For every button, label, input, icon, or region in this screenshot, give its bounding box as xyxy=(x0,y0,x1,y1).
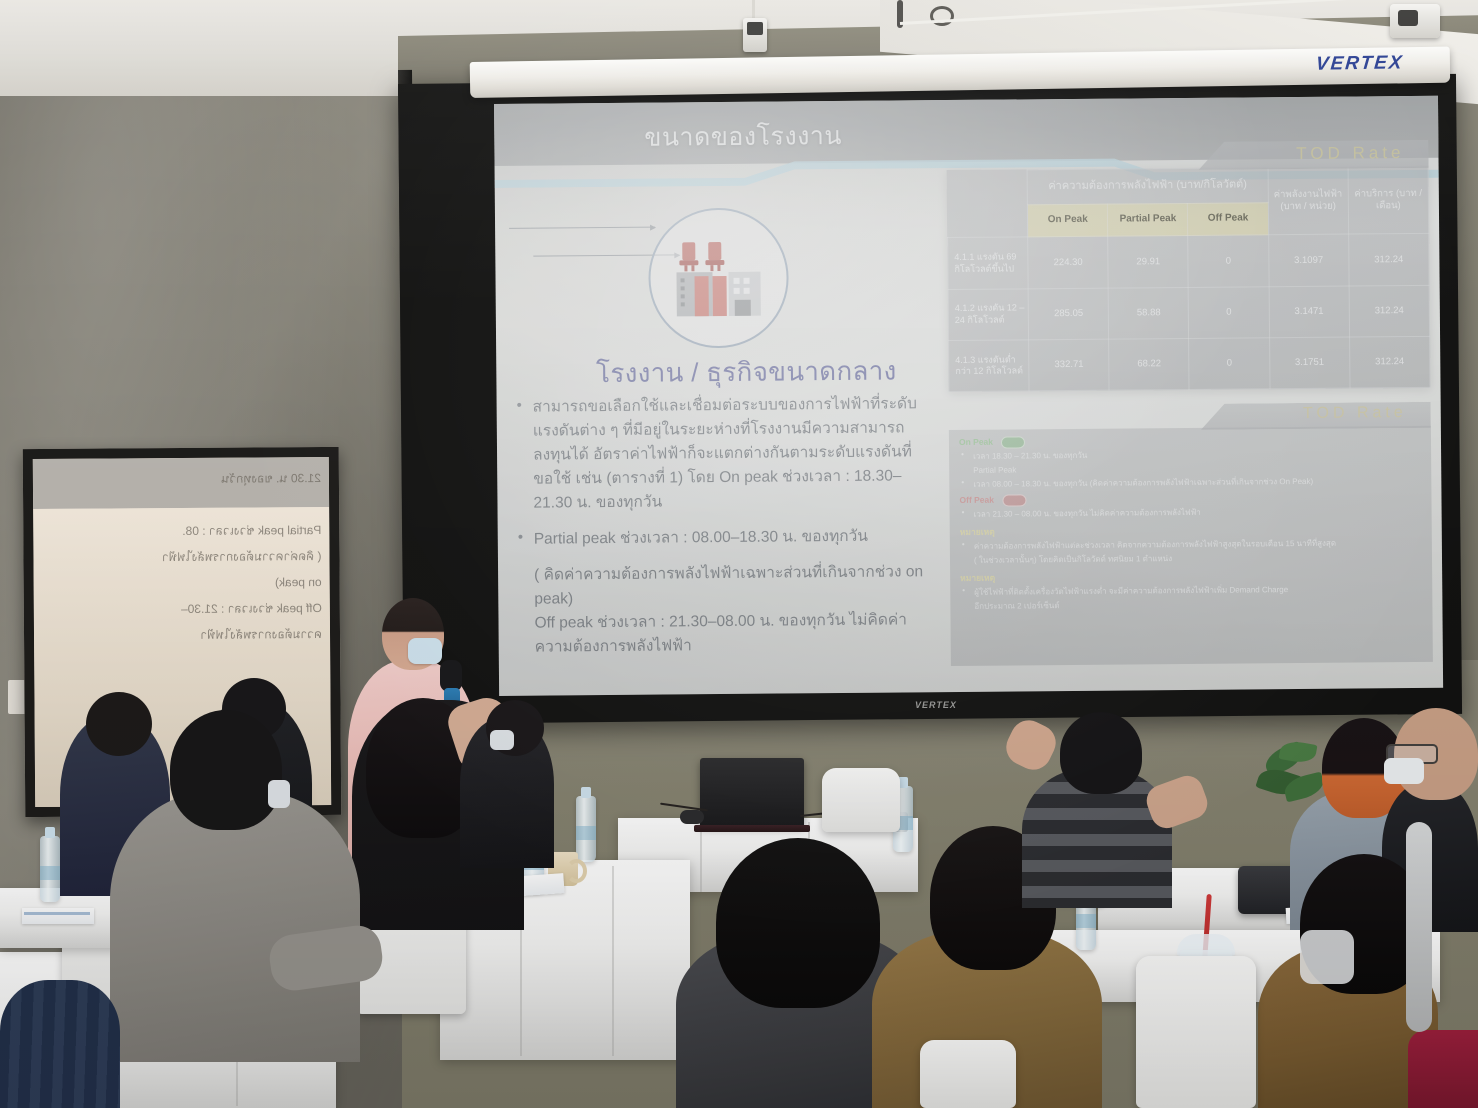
note-line: เวลา 21.30 – 08.00 น. ของทุกวัน ไม่คิดค่… xyxy=(960,505,1424,521)
table-subheader-on-peak: On Peak xyxy=(1028,204,1108,237)
table-group-header: ค่าความต้องการพลังไฟฟ้า (บาท/กิโลวัตต์) xyxy=(1027,168,1268,205)
bullet-sub-line: Off peak ช่วงเวลา : 21.30–08.00 น. ของทุ… xyxy=(514,608,932,660)
face-mask-icon xyxy=(408,638,442,664)
security-camera-icon xyxy=(743,18,767,52)
table-subheader-off-peak: Off Peak xyxy=(1188,203,1268,236)
slide-subtitle: โรงงาน / ธุรกิจขนาดกลาง xyxy=(556,350,936,394)
row-energy: 3.1097 xyxy=(1268,235,1349,287)
row-energy: 3.1471 xyxy=(1269,286,1350,338)
note-heading: หมายเหตุ xyxy=(960,568,1424,585)
water-bottle xyxy=(576,796,596,862)
bullet-sub-line: ( คิดค่าความต้องการพลังไฟฟ้าเฉพาะส่วนที่… xyxy=(514,560,932,612)
table-row: 4.1.3 แรงดันต่ำกว่า 12 กิโลโวลต์ 332.71 … xyxy=(949,336,1430,391)
cloth-fold xyxy=(700,822,702,892)
chair xyxy=(822,768,900,832)
vertex-brand-label: VERTEX xyxy=(1315,52,1405,75)
projected-slide: ขนาดของโรงงาน xyxy=(494,96,1443,696)
factory-icon-circle xyxy=(648,207,789,348)
papers xyxy=(22,908,94,924)
table-subheader-partial-peak: Partial Peak xyxy=(1108,203,1188,236)
slide-bullet-list: สามารถขอเลือกใช้และเชื่อมต่อระบบของการไฟ… xyxy=(513,392,933,660)
water-bottle xyxy=(40,836,60,902)
reflection-line: Off peak ช่วงเวลา : 21.30– xyxy=(42,599,322,619)
row-label: 4.1.3 แรงดันต่ำกว่า 12 กิโลโวลต์ xyxy=(949,340,1030,392)
slide-title: ขนาดของโรงงาน xyxy=(644,116,842,158)
face-mask-icon xyxy=(1300,930,1354,984)
note-line: ( ในช่วงเวลานั้นๆ) โดยคิดเป็นกิโลวัตต์ ท… xyxy=(960,551,1424,567)
table-row: 4.1.2 แรงดัน 12 – 24 กิโลโวลต์ 285.05 58… xyxy=(948,285,1429,340)
note-heading: หมายเหตุ xyxy=(960,522,1424,539)
note-line: อีกประมาณ 2 เปอร์เซ็นต์ xyxy=(960,596,1424,612)
tod-rate-tab-label: TOD Rate xyxy=(1296,143,1404,164)
row-label: 4.1.1 แรงดัน 69 กิโลโวลต์ขึ้นไป xyxy=(948,237,1029,289)
attendee-body-striped xyxy=(0,980,120,1108)
table-col-energy: ค่าพลังงานไฟฟ้า (บาท / หน่วย) xyxy=(1268,167,1349,235)
row-off-peak: 0 xyxy=(1188,235,1269,287)
notes-body: On Peak เวลา 18.30 – 21.30 น. ของทุกวัน … xyxy=(959,432,1425,613)
cup-dome-lid xyxy=(1177,934,1235,956)
row-on-peak: 332.71 xyxy=(1029,339,1110,391)
row-off-peak: 0 xyxy=(1189,338,1270,390)
table-row: 4.1.1 แรงดัน 69 กิโลโวลต์ขึ้นไป 224.30 2… xyxy=(948,234,1429,289)
face-mask-icon xyxy=(1384,758,1424,784)
face-mask-icon xyxy=(268,780,290,808)
row-service: 312.24 xyxy=(1348,234,1429,286)
cloth-fold xyxy=(612,866,614,1056)
presentation-room-photo: VERTEX ขนาดของโรงงาน xyxy=(0,0,1478,1108)
bullet-item: สามารถขอเลือกใช้และเชื่อมต่อระบบของการไฟ… xyxy=(513,392,932,516)
attendee-head-front-center xyxy=(716,838,880,1008)
bullet-item: Partial peak ช่วงเวลา : 08.00–18.30 น. ข… xyxy=(514,524,932,552)
table-col-service: ค่าบริการ (บาท / เดือน) xyxy=(1348,166,1429,234)
factory-icon xyxy=(672,240,765,319)
laptop-icon xyxy=(700,758,804,826)
chair xyxy=(1136,956,1256,1108)
table-header-row: ค่าความต้องการพลังไฟฟ้า (บาท/กิโลวัตต์) … xyxy=(947,166,1428,205)
reflection-line: ( คิดค่าความต้องการพลังไฟฟ้า xyxy=(41,547,321,567)
decor-arrow-1-icon xyxy=(509,227,655,229)
row-label: 4.1.2 แรงดัน 12 – 24 กิโลโวลต์ xyxy=(948,288,1029,340)
camera-mount xyxy=(752,0,755,20)
row-service: 312.24 xyxy=(1349,336,1430,388)
reflection-line: 21.30 น. ของทุกวัน xyxy=(41,469,321,489)
attendee-body-grey-shirt xyxy=(110,792,360,1062)
row-service: 312.24 xyxy=(1349,285,1430,337)
tod-rate-notes-card: TOD Rate On Peak เวลา 18.30 – 21.30 น. ข… xyxy=(949,426,1433,666)
row-partial-peak: 58.88 xyxy=(1108,287,1189,339)
note-line: เวลา 08.00 – 18.30 น. ของทุกวัน (คิดค่าค… xyxy=(959,475,1423,491)
off-peak-label: Off Peak xyxy=(959,494,994,507)
row-on-peak: 285.05 xyxy=(1028,288,1109,340)
attendee-head xyxy=(170,710,282,830)
chair-rail xyxy=(1406,822,1432,1032)
reflection-line: on peak) xyxy=(42,573,322,593)
tod-rate-tab-2: TOD Rate xyxy=(1201,402,1431,430)
vertex-bottom-label: VERTEX xyxy=(915,700,957,710)
attendee-body-maroon xyxy=(1408,1030,1478,1108)
reflection-line: ความต้องการพลังไฟฟ้า xyxy=(42,625,322,645)
table-corner-cell xyxy=(947,170,1028,238)
attendee-head xyxy=(1060,712,1142,794)
on-peak-pill-icon xyxy=(1001,436,1025,448)
tod-rate-tab2-label: TOD Rate xyxy=(1303,404,1407,423)
tod-rate-tab-1: TOD Rate xyxy=(1198,140,1428,170)
tod-rate-table-card: TOD Rate ค่าความต้องการพลังไฟฟ้า (บาท/กิ… xyxy=(947,166,1431,392)
face-mask-icon xyxy=(490,730,514,750)
camera-lens-icon xyxy=(1398,10,1418,26)
mouse-icon xyxy=(680,810,704,824)
paper-line xyxy=(24,912,90,915)
on-peak-label: On Peak xyxy=(959,436,993,449)
row-partial-peak: 68.22 xyxy=(1109,338,1190,390)
attendee-head xyxy=(86,692,152,756)
off-peak-pill-icon xyxy=(1002,494,1026,506)
row-partial-peak: 29.91 xyxy=(1108,236,1189,288)
row-energy: 3.1751 xyxy=(1269,337,1350,389)
reflection-line: Partial peak ช่วงเวลา : 08. xyxy=(41,521,321,541)
chair xyxy=(920,1040,1016,1108)
row-on-peak: 224.30 xyxy=(1028,237,1109,289)
tod-rate-table: ค่าความต้องการพลังไฟฟ้า (บาท/กิโลวัตต์) … xyxy=(947,166,1431,392)
row-off-peak: 0 xyxy=(1189,286,1270,338)
